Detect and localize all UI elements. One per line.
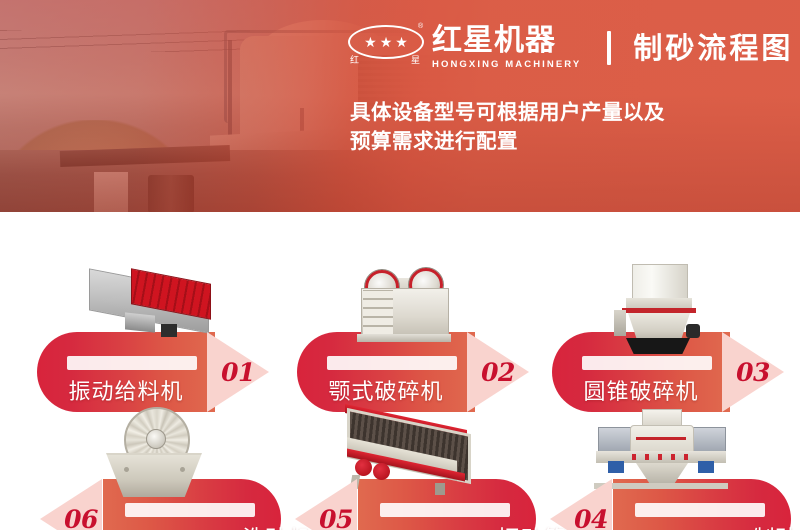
logo-subtext-left: 红 (350, 56, 359, 65)
logo-subtext: 红 星 (350, 56, 420, 65)
star-oval-icon: ★ ★ ★ (348, 25, 424, 59)
flow-step-3-whitebar (582, 356, 712, 370)
flow-step-2-label: 颚式破碎机 (297, 374, 475, 406)
flow-diagram: 振动给料机 01 颚式破碎机 02 (0, 212, 800, 530)
vibrating-feeder-icon (71, 262, 221, 354)
flow-step-3-label: 圆锥破碎机 (552, 374, 730, 406)
cone-crusher-icon (586, 262, 736, 354)
flow-step-1-number: 01 (205, 358, 271, 387)
header-banner: ★ ★ ★ ® 红 星 红星机器 HONGXING MACHINERY 制砂流程… (0, 0, 800, 212)
flow-step-6-label: 洗砂机 (188, 521, 366, 530)
flow-step-4[interactable]: 制砂机 04 (528, 417, 793, 530)
flow-step-1-whitebar (67, 356, 197, 370)
page-title: 制砂流程图 (633, 34, 793, 63)
flow-step-3-number: 03 (720, 358, 786, 387)
flow-step-6-number: 06 (48, 505, 114, 530)
flow-step-6-arrow: 06 (40, 479, 106, 530)
logo-subtext-right: 星 (411, 56, 420, 65)
flow-step-1[interactable]: 振动给料机 01 (35, 270, 300, 415)
flow-step-1-label: 振动给料机 (37, 374, 215, 406)
hongxing-logo-icon: ★ ★ ★ ® 红 星 (348, 23, 428, 73)
header-subtitle-line1: 具体设备型号可根据用户产量以及 (350, 98, 770, 127)
flow-step-4-label: 制砂机 (698, 521, 800, 530)
star-icon-1: ★ (364, 35, 377, 49)
flow-step-5-whitebar (380, 503, 510, 517)
flow-step-2-arrow: 02 (467, 332, 533, 412)
flow-step-6-whitebar (125, 503, 255, 517)
flow-step-2[interactable]: 颚式破碎机 02 (295, 270, 560, 415)
infographic-page: ★ ★ ★ ® 红 星 红星机器 HONGXING MACHINERY 制砂流程… (0, 0, 800, 530)
flow-step-3[interactable]: 圆锥破碎机 03 (550, 270, 800, 415)
flow-step-2-number: 02 (465, 358, 531, 387)
flow-step-5-label: 振动筛 (443, 521, 621, 530)
brand-name-en: HONGXING MACHINERY (432, 59, 581, 70)
flow-step-4-whitebar (635, 503, 765, 517)
flow-step-5[interactable]: 振动筛 05 (273, 417, 538, 530)
header-subtitle-line2: 预算需求进行配置 (350, 127, 770, 156)
jaw-crusher-icon (331, 262, 481, 354)
header-divider (607, 31, 611, 65)
brand-lockup: ★ ★ ★ ® 红 星 红星机器 HONGXING MACHINERY 制砂流程… (348, 22, 793, 74)
flow-step-1-arrow: 01 (207, 332, 273, 412)
header-subtitle: 具体设备型号可根据用户产量以及 预算需求进行配置 (350, 98, 770, 156)
brand-name-cn: 红星机器 (432, 26, 581, 56)
flow-step-6[interactable]: 洗砂机 06 (18, 417, 283, 530)
flow-step-2-whitebar (327, 356, 457, 370)
registered-trademark-icon: ® (418, 23, 423, 30)
star-icon-3: ★ (395, 35, 408, 49)
star-icon-2: ★ (380, 35, 393, 49)
brand-wordmark: 红星机器 HONGXING MACHINERY (432, 26, 581, 70)
flow-step-3-arrow: 03 (722, 332, 788, 412)
